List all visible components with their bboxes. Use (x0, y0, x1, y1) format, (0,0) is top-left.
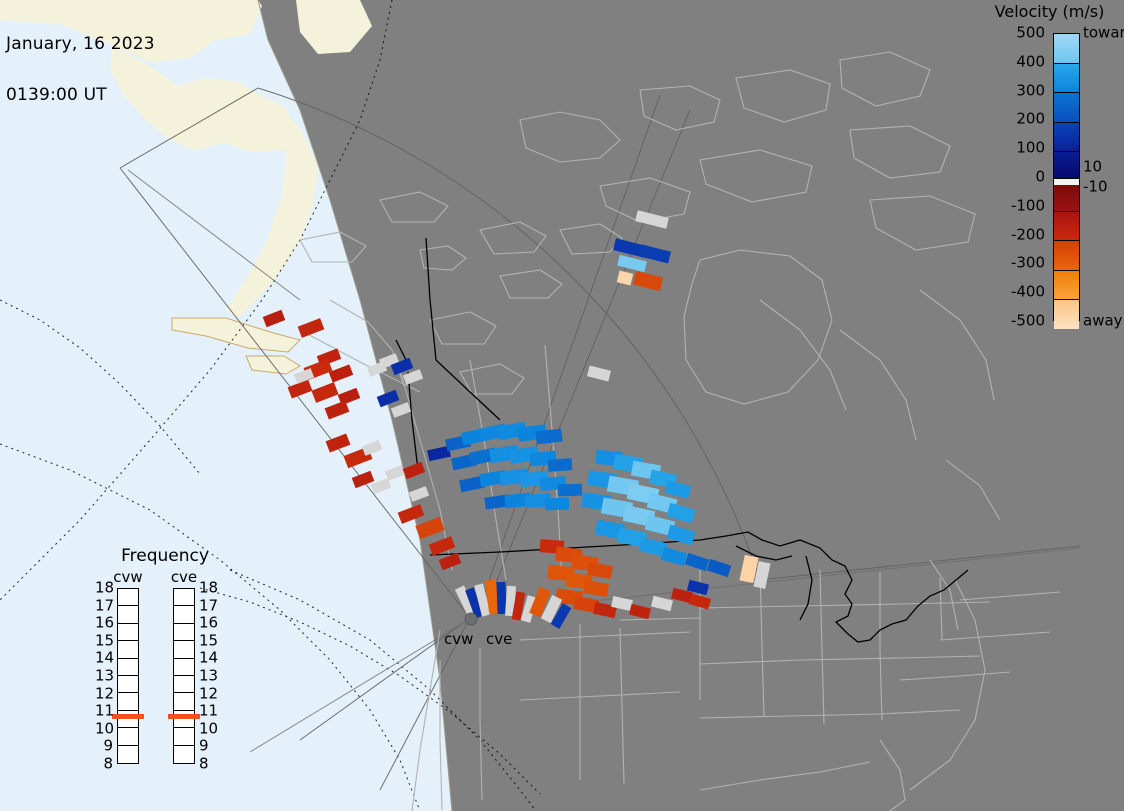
frequency-tick: 9 (95, 739, 113, 754)
velocity-cell (707, 559, 732, 577)
velocity-cell (429, 536, 456, 556)
colorbar-segment (1054, 93, 1079, 123)
frequency-cell (118, 659, 138, 676)
velocity-cell (587, 366, 611, 382)
frequency-tick: 8 (199, 757, 209, 772)
frequency-cell (174, 728, 194, 745)
velocity-cell (415, 517, 444, 539)
colorbar-gradient-box (1053, 33, 1080, 321)
velocity-cell (685, 553, 710, 571)
velocity-cell (352, 471, 375, 488)
frequency-marker-cvw (112, 714, 144, 719)
colorbar-segment (1054, 34, 1079, 64)
frequency-cell (118, 641, 138, 658)
velocity-cell (629, 604, 651, 620)
colorbar-segment (1054, 64, 1079, 94)
colorbar-tick: 300 (1016, 83, 1045, 98)
velocity-cell (263, 310, 286, 327)
frequency-cell (174, 746, 194, 763)
colorbar-tick: -400 (1011, 285, 1045, 300)
colorbar-tick-labels: 5004003002001000-100-200-300-400-500 (975, 33, 1049, 321)
frequency-cell (174, 693, 194, 710)
frequency-tick: 16 (95, 616, 113, 631)
colorbar-tick: -200 (1011, 227, 1045, 242)
radar-origin-marker (465, 613, 477, 625)
frequency-cell (174, 606, 194, 623)
colorbar-tick: 0 (1035, 170, 1045, 185)
colorbar-tick: 500 (1016, 26, 1045, 41)
colorbar-segment (1054, 271, 1079, 301)
colorbar-gs-upper-label: 10 (1083, 159, 1102, 174)
frequency-cell (118, 746, 138, 763)
frequency-cell (118, 693, 138, 710)
velocity-cell (377, 390, 400, 407)
frequency-tick: 16 (199, 616, 218, 631)
colorbar-segment (1054, 300, 1079, 329)
frequency-cell (118, 624, 138, 641)
colorbar-tick: 400 (1016, 54, 1045, 69)
frequency-tick: 8 (95, 757, 113, 772)
frequency-marker-cve (168, 714, 200, 719)
colorbar-segment (1054, 152, 1079, 179)
velocity-cell (391, 402, 411, 418)
velocity-cell (298, 318, 325, 338)
frequency-tick: 9 (199, 739, 209, 754)
velocity-cell (661, 547, 688, 566)
frequency-cell (118, 728, 138, 745)
velocity-cell (651, 596, 673, 612)
colorbar-tick: 200 (1016, 112, 1045, 127)
colorbar-gs-lower-label: -10 (1083, 180, 1108, 195)
frequency-tick: 12 (199, 686, 218, 701)
velocity-cell (558, 484, 582, 497)
velocity-cell (329, 364, 353, 382)
velocity-cell (385, 465, 405, 481)
velocity-cell (583, 580, 609, 597)
frequency-cell (174, 589, 194, 606)
velocity-cell (326, 433, 351, 452)
colorbar-segment (1054, 241, 1079, 271)
velocity-cell (548, 458, 573, 472)
frequency-tick: 18 (95, 581, 113, 596)
velocity-cell (545, 498, 569, 511)
velocity-cell (535, 429, 562, 445)
colorbar-tick: 100 (1016, 141, 1045, 156)
radar-map-canvas: January, 16 2023 0139:00 UT cvw cve Velo… (0, 0, 1124, 811)
frequency-cell (118, 589, 138, 606)
colorbar-segment (1054, 185, 1079, 212)
frequency-cell (118, 676, 138, 693)
velocity-cell (665, 480, 691, 498)
velocity-cell (617, 255, 647, 272)
frequency-tick: 14 (95, 651, 113, 666)
site-label-cve: cve (486, 630, 512, 648)
velocity-cell (617, 270, 633, 285)
velocity-cell (496, 582, 506, 614)
colorbar-tick: -500 (1011, 314, 1045, 329)
colorbar-segment (1054, 212, 1079, 242)
frequency-tick: 10 (199, 721, 218, 736)
date-label: January, 16 2023 (6, 36, 155, 53)
colorbar-tick: -100 (1011, 198, 1045, 213)
velocity-cell (398, 504, 425, 524)
frequency-tick: 17 (95, 598, 113, 613)
frequency-tick: 12 (95, 686, 113, 701)
frequency-tick: 11 (199, 704, 218, 719)
frequency-tick: 17 (199, 598, 218, 613)
frequency-tick: 18 (199, 581, 218, 596)
frequency-tick: 13 (199, 669, 218, 684)
frequency-cell (174, 641, 194, 658)
frequency-tick: 15 (95, 633, 113, 648)
velocity-cell (409, 486, 429, 502)
frequency-cell (174, 624, 194, 641)
colorbar-side-labels: toward10-10away (1083, 33, 1124, 321)
velocity-cell (667, 503, 696, 524)
velocity-colorbar: Velocity (m/s) 5004003002001000-100-200-… (975, 0, 1124, 340)
frequency-tick: 14 (199, 651, 218, 666)
frequency-cell (118, 606, 138, 623)
velocity-cell (403, 369, 423, 385)
velocity-cell (635, 210, 669, 228)
velocity-cell (403, 462, 426, 479)
frequency-tick: 11 (95, 704, 113, 719)
time-label: 0139:00 UT (6, 87, 155, 104)
frequency-bar-cve (173, 588, 195, 764)
colorbar-toward-label: toward (1083, 26, 1124, 41)
velocity-cell (639, 245, 671, 264)
colorbar-away-label: away (1083, 314, 1123, 329)
velocity-cell (633, 271, 664, 291)
velocity-cell (362, 440, 382, 456)
frequency-tick: 10 (95, 721, 113, 736)
colorbar-tick: -300 (1011, 256, 1045, 271)
velocity-cell (439, 553, 462, 570)
timestamp-overlay: January, 16 2023 0139:00 UT (6, 2, 155, 138)
frequency-legend: Frequency cvw18171615141312111098cve1817… (95, 546, 235, 778)
frequency-cell (174, 676, 194, 693)
colorbar-segment (1054, 123, 1079, 153)
frequency-tick: 15 (199, 633, 218, 648)
frequency-title: Frequency (95, 546, 235, 566)
velocity-cell (311, 382, 338, 403)
site-label-cvw: cvw (444, 630, 473, 648)
velocity-cell (689, 593, 711, 609)
frequency-tick: 13 (95, 669, 113, 684)
colorbar-title: Velocity (m/s) (975, 2, 1124, 21)
velocity-cell (667, 525, 696, 546)
velocity-cell (325, 400, 350, 419)
frequency-bar-cvw (117, 588, 139, 764)
frequency-cell (174, 659, 194, 676)
